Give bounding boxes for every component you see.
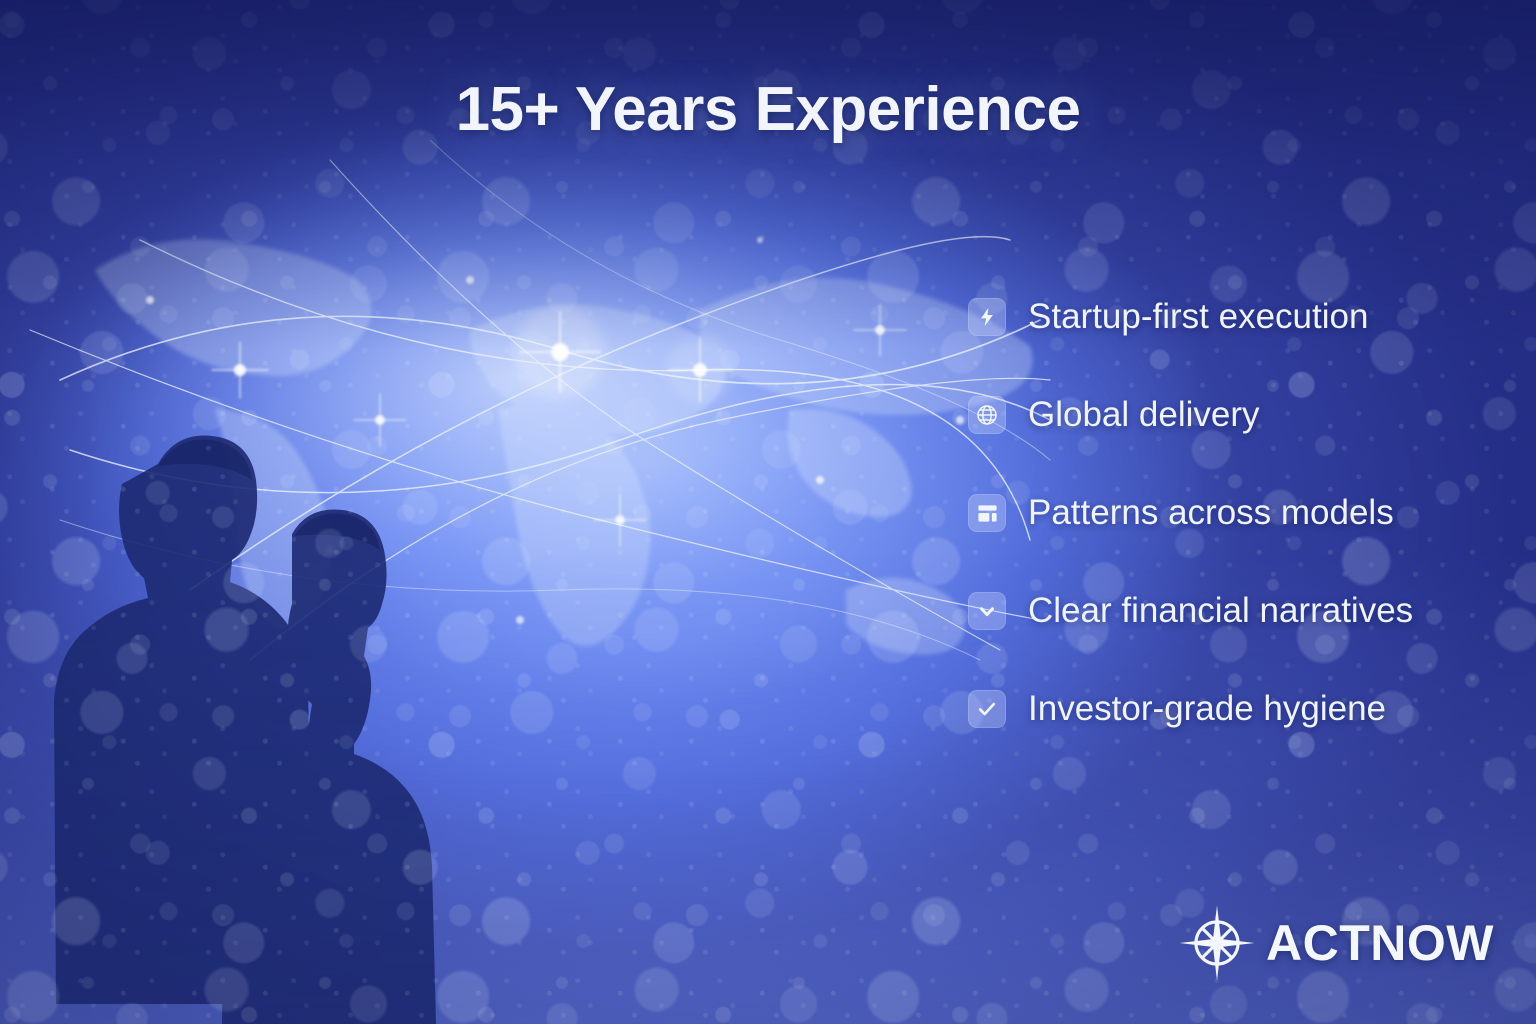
feature-item-investor-grade-hygiene[interactable]: Investor-grade hygiene — [968, 660, 1488, 758]
brand-logo[interactable]: ACTNOW — [1178, 904, 1494, 982]
compass-rose-icon — [1178, 904, 1256, 982]
brand-name: ACTNOW — [1266, 914, 1494, 972]
feature-label: Investor-grade hygiene — [1028, 689, 1386, 729]
feature-item-patterns-across-models[interactable]: Patterns across models — [968, 464, 1488, 562]
slide-title: 15+ Years Experience — [0, 74, 1536, 145]
feature-item-startup-first-execution[interactable]: Startup-first execution — [968, 268, 1488, 366]
globe-icon — [968, 396, 1006, 434]
layout-panels-icon — [968, 494, 1006, 532]
feature-label: Clear financial narratives — [1028, 591, 1413, 631]
feature-label: Startup-first execution — [1028, 297, 1368, 337]
feature-label: Patterns across models — [1028, 493, 1394, 533]
feature-item-clear-financial-narratives[interactable]: Clear financial narratives — [968, 562, 1488, 660]
feature-label: Global delivery — [1028, 395, 1260, 435]
feature-item-global-delivery[interactable]: Global delivery — [968, 366, 1488, 464]
slide-canvas: 15+ Years Experience Startup-first execu… — [0, 0, 1536, 1024]
lightning-bolt-icon — [968, 298, 1006, 336]
checkmark-icon — [968, 690, 1006, 728]
feature-list: Startup-first execution Global delivery — [968, 268, 1488, 758]
chevron-check-icon — [968, 592, 1006, 630]
